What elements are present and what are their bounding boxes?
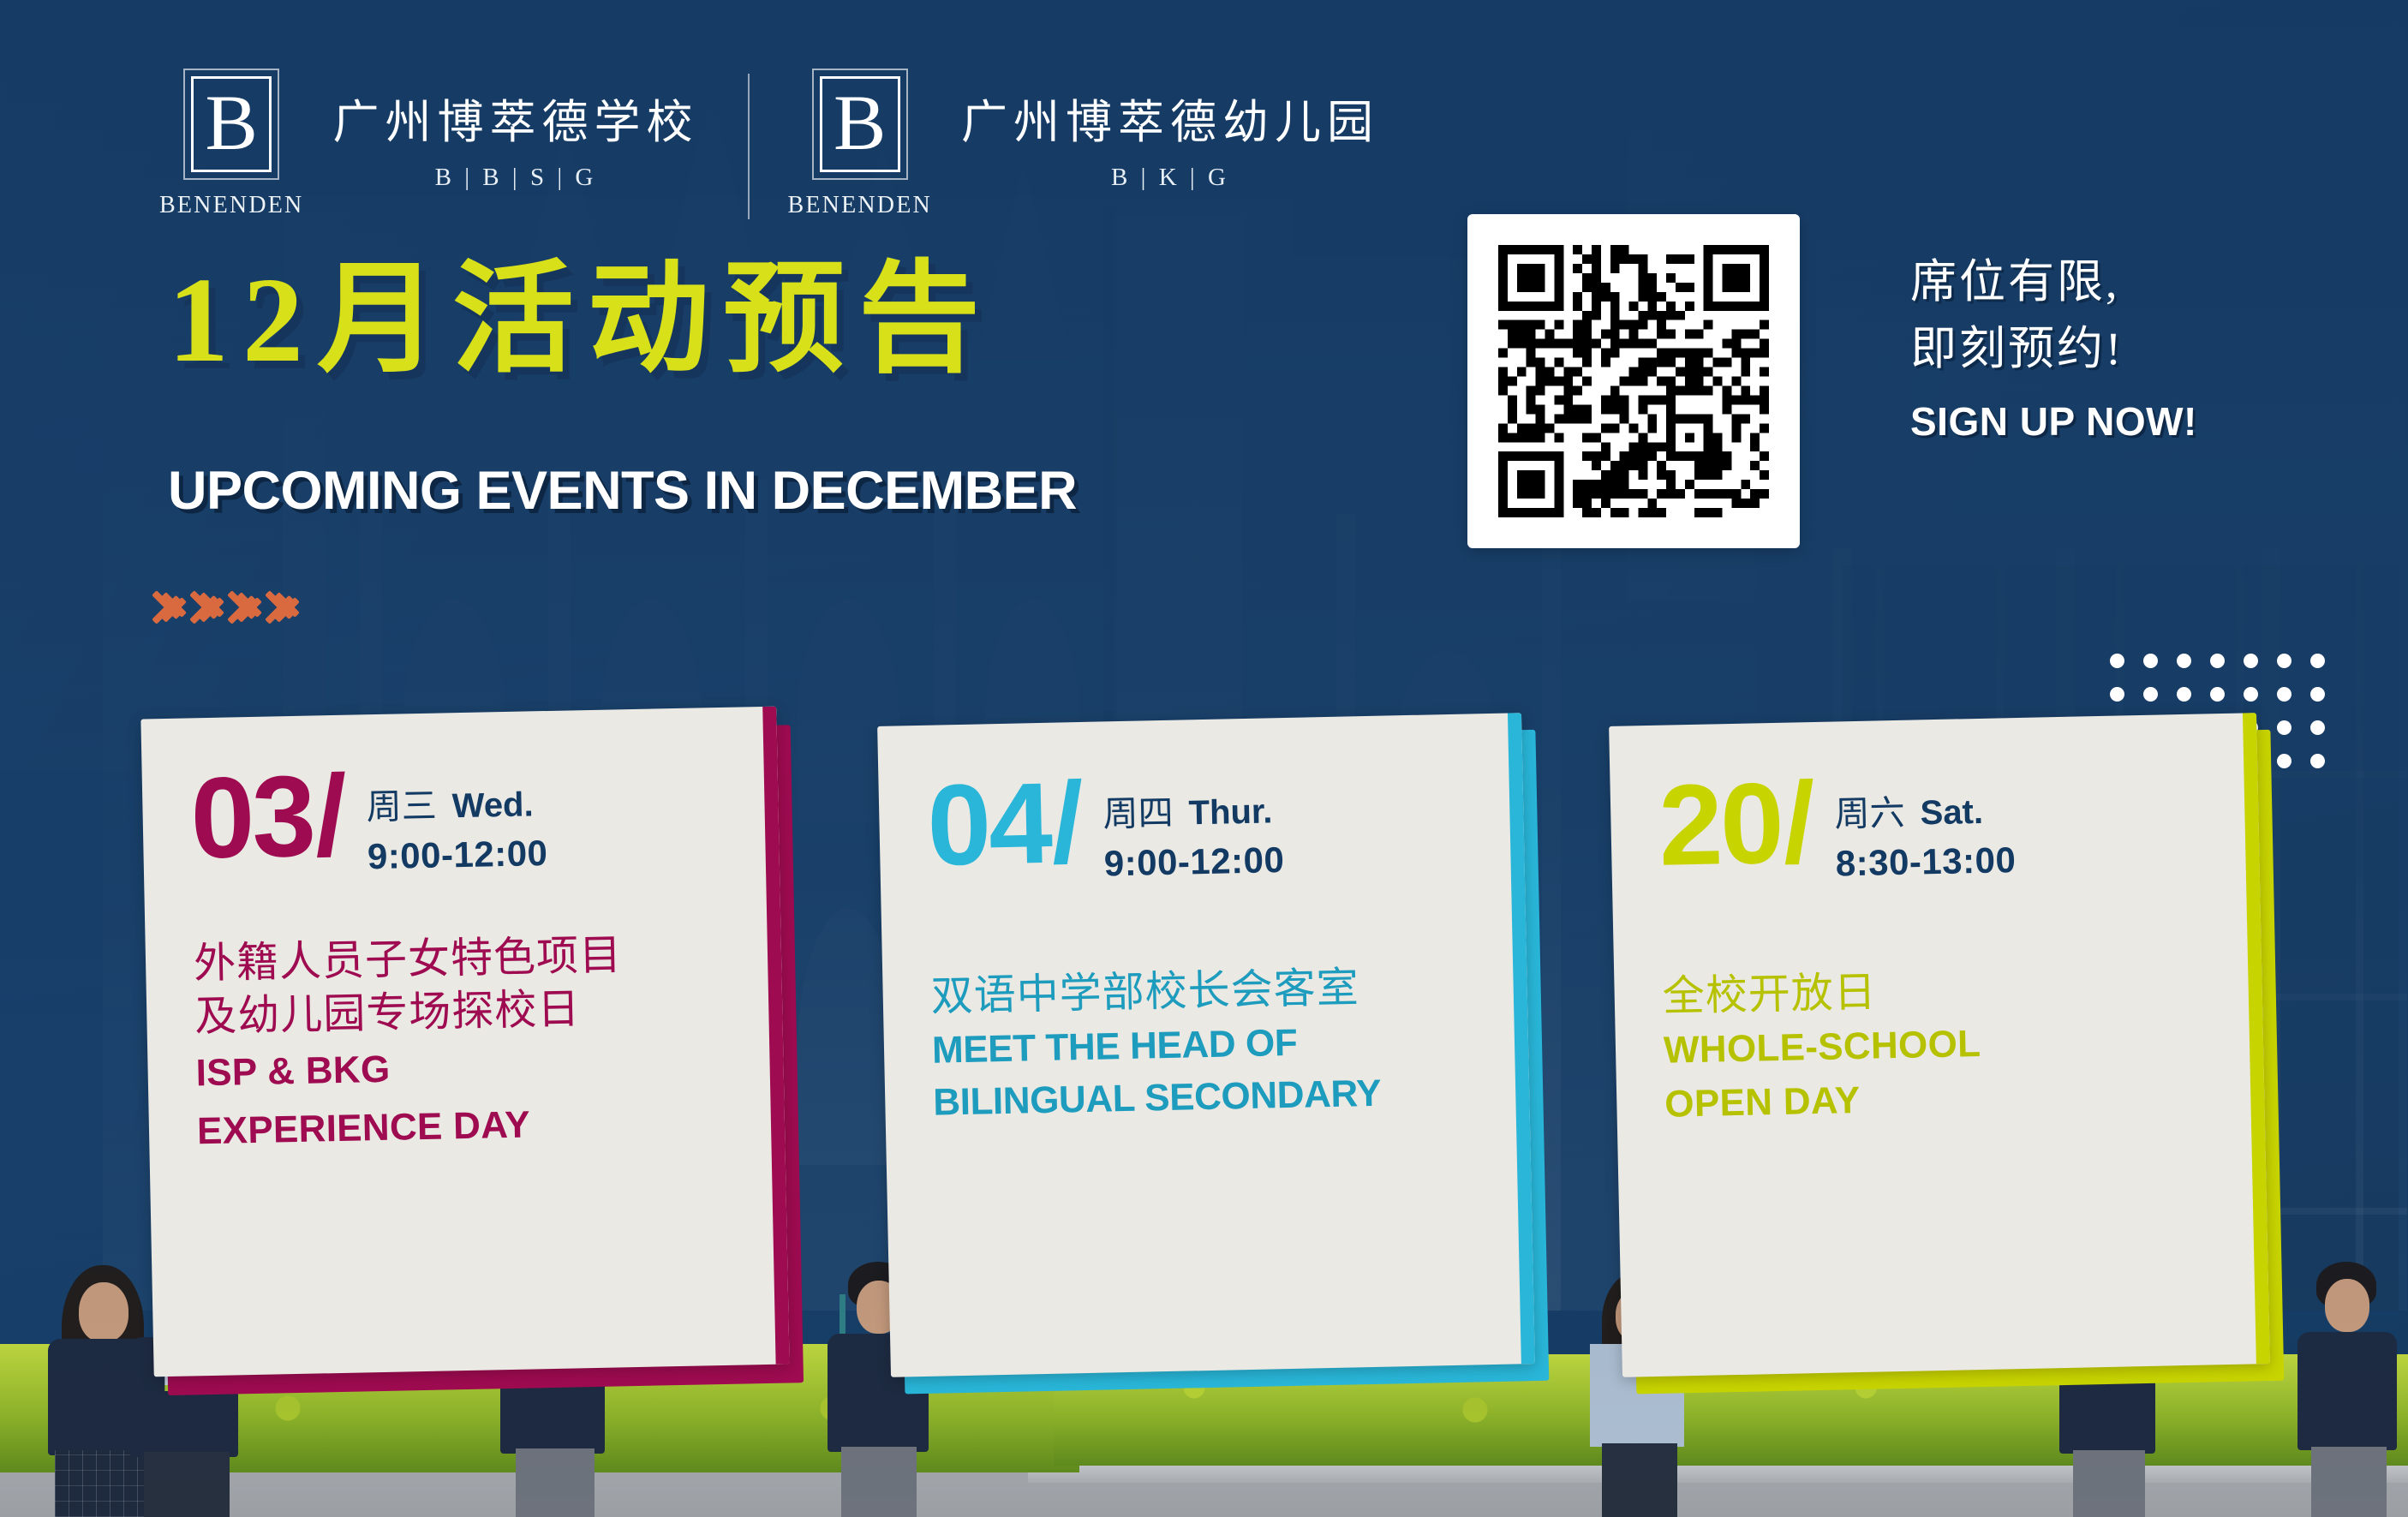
event-meta: 周六 Sat. 8:30-13:00: [1834, 781, 2017, 884]
signup-cta-en: SIGN UP NOW!: [1910, 398, 2197, 445]
event-card-03[interactable]: 03 / 周三 Wed. 9:00-12:00 外籍人员子女特色项目 及幼儿园专…: [140, 707, 789, 1377]
card-surface[interactable]: 20 / 周六 Sat. 8:30-13:00 全校开放日 WHOLE-SCHO…: [1609, 713, 2270, 1377]
dot: [2268, 678, 2301, 711]
poster-canvas: B BENENDEN 广州博萃德学校 B | B | S | G B BENEN…: [0, 0, 2408, 1517]
dot: [2301, 711, 2334, 744]
kindergarten-name-cn: 广州博萃德幼儿园: [961, 84, 1379, 152]
dot: [2201, 644, 2234, 678]
logo-letter: B: [206, 83, 258, 162]
event-day-number: 20 /: [1658, 773, 1813, 875]
weekday-cn: 周三: [366, 777, 437, 830]
poster-title-cn: 12月活动预告: [168, 259, 994, 380]
logo-letter: B: [834, 83, 886, 162]
event-time: 9:00-12:00: [1103, 839, 1284, 884]
event-title-cn-line1: 全校开放日: [1662, 959, 2214, 1023]
event-title-en-line1: WHOLE-SCHOOL: [1664, 1017, 2216, 1072]
school-abbr: B | B | S | G: [332, 164, 698, 192]
day-value: 03: [190, 767, 314, 869]
kindergarten-abbr: B | K | G: [961, 164, 1379, 192]
weekday-cn: 周四: [1102, 784, 1174, 837]
logo-wordmark: BENENDEN: [787, 192, 931, 219]
event-title-en-line1: ISP & BKG: [195, 1041, 736, 1096]
day-value: 20: [1658, 774, 1782, 875]
benenden-b-mark-icon: B: [812, 69, 908, 180]
logo-wordmark: BENENDEN: [159, 192, 303, 219]
event-card-20[interactable]: 20 / 周六 Sat. 8:30-13:00 全校开放日 WHOLE-SCHO…: [1609, 713, 2270, 1377]
weekday-cn: 周六: [1834, 784, 1905, 837]
event-title-en-line1: MEET THE HEAD OF: [932, 1017, 1481, 1072]
dot: [2234, 678, 2268, 711]
event-card-04[interactable]: 04 / 周四 Thur. 9:00-12:00 双语中学部校长会客室 MEET…: [877, 713, 1535, 1377]
dot: [2301, 644, 2334, 678]
school-name-cn: 广州博萃德学校: [332, 84, 698, 152]
dot: [2167, 644, 2201, 678]
event-title-en-line2: EXPERIENCE DAY: [197, 1098, 738, 1153]
card-surface[interactable]: 04 / 周四 Thur. 9:00-12:00 双语中学部校长会客室 MEET…: [877, 713, 1535, 1377]
brand-logo-bar: B BENENDEN 广州博萃德学校 B | B | S | G B BENEN…: [159, 69, 1379, 219]
day-slash: /: [314, 767, 346, 866]
event-time: 8:30-13:00: [1835, 839, 2016, 884]
weekday-en: Wed.: [451, 785, 534, 826]
qr-code-icon[interactable]: [1498, 245, 1769, 517]
dot: [2234, 644, 2268, 678]
weekday-en: Thur.: [1188, 792, 1273, 833]
day-value: 04: [926, 774, 1050, 875]
poster-title-en: UPCOMING EVENTS IN DECEMBER: [168, 464, 1077, 518]
signup-line1-cn: 席位有限,: [1910, 248, 2197, 315]
event-title-en-line2: OPEN DAY: [1664, 1071, 2217, 1126]
event-meta: 周三 Wed. 9:00-12:00: [366, 774, 548, 877]
event-title-cn-line1: 双语中学部校长会客室: [930, 959, 1479, 1023]
event-meta: 周四 Thur. 9:00-12:00: [1102, 781, 1285, 884]
signup-callout: 席位有限, 即刻预约! SIGN UP NOW!: [1910, 248, 2197, 445]
benenden-b-mark-icon: B: [183, 69, 279, 180]
event-time: 9:00-12:00: [367, 833, 547, 877]
event-day-number: 03 /: [190, 767, 346, 869]
chevron-right-icon: [266, 582, 317, 636]
dot: [2134, 678, 2167, 711]
logo-benenden-school[interactable]: B BENENDEN 广州博萃德学校 B | B | S | G: [159, 69, 698, 219]
logo-benenden-kindergarten[interactable]: B BENENDEN 广州博萃德幼儿园 B | K | G: [787, 69, 1378, 219]
event-title-cn-line2: 及幼儿园专场探校日: [194, 979, 735, 1042]
day-slash: /: [1782, 773, 1813, 873]
weekday-en: Sat.: [1920, 793, 1983, 833]
event-day-number: 04 /: [926, 773, 1082, 875]
dot: [2268, 744, 2301, 778]
signup-line2-cn: 即刻预约!: [1910, 315, 2197, 382]
event-title-en-line2: BILINGUAL SECONDARY: [933, 1069, 1482, 1124]
qr-code-card[interactable]: [1467, 214, 1800, 548]
dot: [2167, 678, 2201, 711]
dot: [2134, 644, 2167, 678]
dot: [2201, 678, 2234, 711]
logo-divider: [748, 74, 750, 219]
card-surface[interactable]: 03 / 周三 Wed. 9:00-12:00 外籍人员子女特色项目 及幼儿园专…: [140, 707, 789, 1377]
dot: [2268, 644, 2301, 678]
dot: [2268, 711, 2301, 744]
dot: [2301, 744, 2334, 778]
chevron-arrows-decoration: [152, 582, 303, 636]
dot: [2100, 678, 2134, 711]
dot: [2301, 678, 2334, 711]
dot: [2100, 644, 2134, 678]
day-slash: /: [1050, 773, 1082, 873]
